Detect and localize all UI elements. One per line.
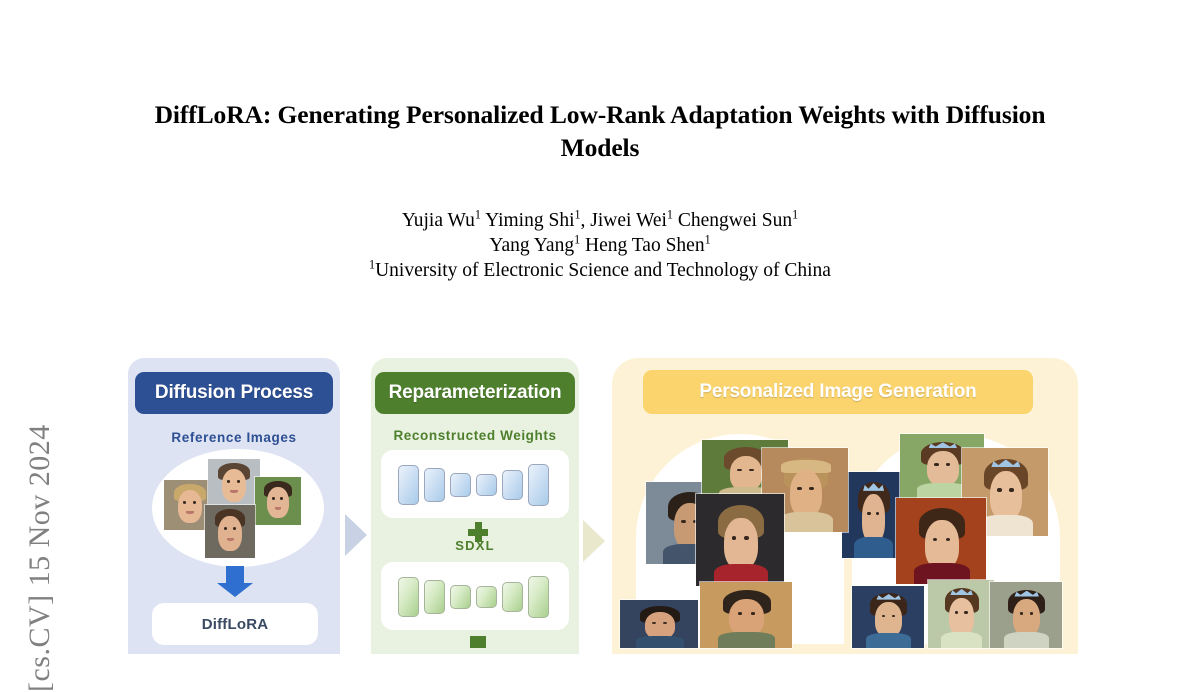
base-weight-bar bbox=[476, 586, 497, 608]
arrow-down-icon bbox=[226, 566, 244, 584]
arrow-down-icon bbox=[217, 583, 253, 597]
label-reconstructed-weights: Reconstructed Weights bbox=[375, 428, 575, 443]
gen-autumn-woman bbox=[896, 498, 986, 584]
chevron-right-icon bbox=[345, 514, 367, 556]
base-weight-bar bbox=[502, 582, 523, 612]
reconstructed-weight-bar bbox=[398, 465, 419, 505]
base-weight-bar bbox=[528, 576, 549, 618]
reconstructed-weight-bar bbox=[424, 468, 445, 502]
base-weight-bar bbox=[424, 580, 445, 614]
gen-crowd-man bbox=[696, 494, 784, 586]
reference-photo bbox=[205, 505, 255, 558]
gen-feather-woman bbox=[990, 582, 1062, 648]
author-name: Yang Yang bbox=[489, 235, 574, 256]
base-weight-bar bbox=[450, 585, 471, 609]
author-affiliation-marker: 1 bbox=[705, 233, 711, 247]
gen-night-woman bbox=[842, 472, 904, 558]
plus-icon bbox=[468, 522, 488, 542]
gen-white-woman bbox=[928, 580, 994, 648]
difflora-box: DiffLoRA bbox=[152, 603, 318, 645]
reconstructed-weight-bar bbox=[476, 474, 497, 496]
panel-header-generation: Personalized Image Generation bbox=[643, 370, 1033, 414]
reference-photo bbox=[255, 477, 301, 525]
author-name: Yujia Wu bbox=[402, 210, 475, 231]
gen-desert-man bbox=[700, 582, 792, 648]
face-woman bbox=[205, 505, 255, 558]
author-block: Yujia Wu1 Yiming Shi1, Jiwei Wei1 Chengw… bbox=[120, 208, 1080, 283]
reconstructed-weight-bar bbox=[502, 470, 523, 500]
author-name: Heng Tao Shen bbox=[585, 235, 705, 256]
affiliation-line: 1University of Electronic Science and Te… bbox=[120, 258, 1080, 283]
author-name: Jiwei Wei bbox=[590, 210, 667, 231]
chevron-right-icon bbox=[583, 520, 605, 562]
author-name: Yiming Shi bbox=[485, 210, 574, 231]
face-brown-man bbox=[208, 459, 260, 509]
face-girl-floral bbox=[255, 477, 301, 525]
author-separator: , bbox=[581, 210, 591, 231]
reconstructed-weight-bar bbox=[528, 464, 549, 506]
gen-moon-woman bbox=[852, 586, 924, 648]
panel-header-diffusion: Diffusion Process bbox=[135, 372, 333, 414]
author-name: Chengwei Sun bbox=[678, 210, 792, 231]
base-weight-bar bbox=[398, 577, 419, 617]
panel-header-reparameterization: Reparameterization bbox=[375, 372, 575, 414]
teaser-figure: Diffusion Process Reparameterization Per… bbox=[0, 350, 1200, 648]
reconstructed-weight-bar bbox=[450, 473, 471, 497]
paper-header: DiffLoRA: Generating Personalized Low-Ra… bbox=[120, 0, 1080, 283]
author-line-1: Yujia Wu1 Yiming Shi1, Jiwei Wei1 Chengw… bbox=[120, 208, 1080, 233]
author-line-2: Yang Yang1 Heng Tao Shen1 bbox=[120, 233, 1080, 258]
gen-night-man bbox=[620, 600, 698, 648]
label-reference-images: Reference Images bbox=[135, 430, 333, 445]
author-affiliation-marker: 1 bbox=[792, 208, 798, 222]
arrow-down-icon bbox=[470, 636, 486, 648]
affiliation-text: University of Electronic Science and Tec… bbox=[375, 260, 831, 281]
page-title: DiffLoRA: Generating Personalized Low-Ra… bbox=[120, 0, 1080, 164]
reference-photo bbox=[208, 459, 260, 509]
